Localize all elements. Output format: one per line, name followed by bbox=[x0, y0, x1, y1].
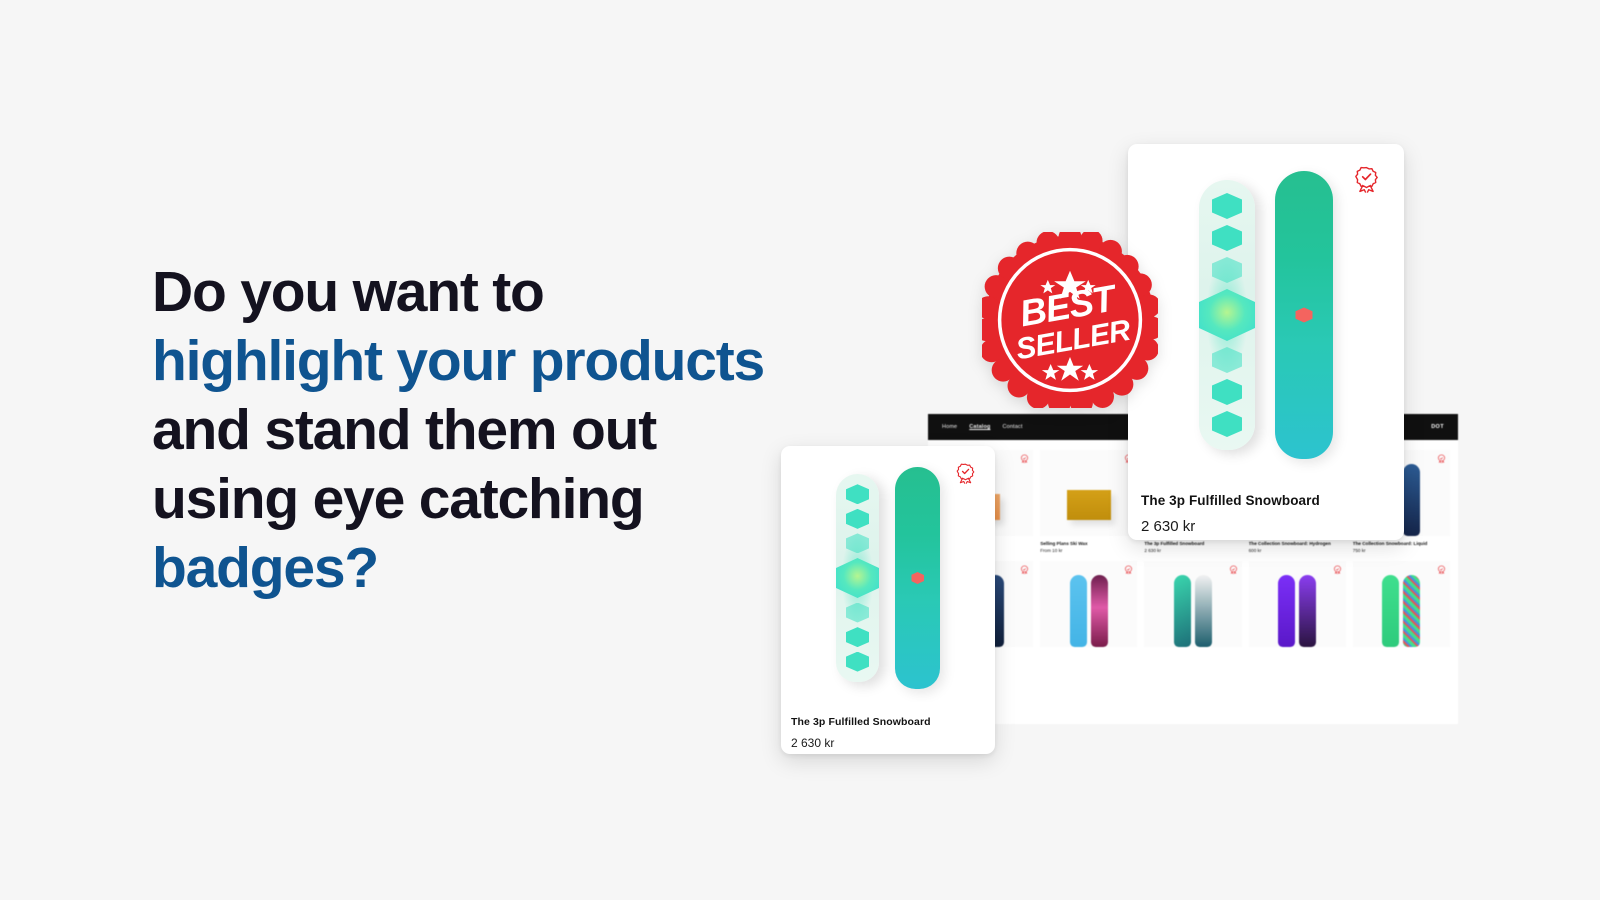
hex-4 bbox=[846, 603, 869, 623]
storefront-product-card[interactable] bbox=[1144, 561, 1241, 651]
award-ribbon-icon bbox=[1437, 565, 1446, 574]
storefront-product-card[interactable] bbox=[1249, 561, 1346, 651]
featured-product-card-small[interactable]: The 3p Fulfilled Snowboard 2 630 kr bbox=[781, 446, 995, 754]
nav-link-home[interactable]: Home bbox=[942, 424, 957, 430]
nav-link-catalog[interactable]: Catalog bbox=[969, 424, 990, 430]
award-ribbon-icon[interactable] bbox=[1353, 166, 1380, 193]
storefront-product-card[interactable]: Selling Plans Ski Wax From 10 kr bbox=[1040, 450, 1137, 554]
product-thumbnail bbox=[1249, 561, 1346, 647]
snowboard-pair-small bbox=[789, 454, 987, 702]
mini-board-right bbox=[1403, 575, 1420, 647]
mini-board-right bbox=[1403, 464, 1420, 536]
featured-product-card-large[interactable]: The 3p Fulfilled Snowboard 2 630 kr bbox=[1128, 144, 1404, 540]
mini-board-left bbox=[1278, 575, 1295, 647]
award-ribbon-icon bbox=[1229, 565, 1238, 574]
hexagon-pattern bbox=[836, 474, 879, 682]
snowboard-image bbox=[1382, 575, 1420, 647]
ski-wax-image bbox=[1067, 490, 1111, 520]
award-ribbon-icon bbox=[1020, 565, 1029, 574]
hex-logo-red bbox=[1296, 308, 1313, 323]
boards-large bbox=[1199, 171, 1333, 459]
hex-5 bbox=[846, 627, 869, 647]
hex-1 bbox=[1212, 193, 1242, 219]
headline-line-1: Do you want to bbox=[152, 258, 852, 327]
hexagon-pattern bbox=[1199, 180, 1255, 450]
award-ribbon-icon bbox=[1020, 454, 1029, 463]
mini-board-left bbox=[1070, 575, 1087, 647]
award-ribbon-icon[interactable] bbox=[955, 463, 976, 484]
product-title: The 3p Fulfilled Snowboard bbox=[791, 716, 987, 728]
product-title: The Collection Snowboard: Liquid bbox=[1353, 540, 1450, 547]
mini-board-left bbox=[1382, 575, 1399, 647]
hex-center bbox=[1199, 289, 1255, 341]
product-thumbnail bbox=[1040, 450, 1137, 536]
product-price: 750 kr bbox=[1353, 547, 1450, 554]
award-ribbon-icon bbox=[1437, 454, 1446, 463]
product-thumbnail bbox=[1144, 561, 1241, 647]
snowboard-right-large bbox=[1275, 171, 1333, 459]
mini-board-right bbox=[1299, 575, 1316, 647]
product-price: 600 kr bbox=[1249, 547, 1346, 554]
mini-board-right bbox=[1091, 575, 1108, 647]
hex-center bbox=[836, 558, 879, 598]
product-title: Selling Plans Ski Wax bbox=[1040, 540, 1137, 547]
product-title: The 3p Fulfilled Snowboard bbox=[1144, 540, 1241, 547]
product-price: 2 630 kr bbox=[1141, 518, 1394, 535]
hex-4 bbox=[1212, 347, 1242, 373]
snowboard-image bbox=[1278, 575, 1316, 647]
hex-6 bbox=[1212, 411, 1242, 437]
product-image-small bbox=[789, 454, 987, 702]
snowboard-left-large bbox=[1199, 180, 1255, 450]
headline-line-5: badges? bbox=[152, 534, 852, 603]
snowboard-image bbox=[1070, 575, 1108, 647]
storefront-product-card[interactable] bbox=[1040, 561, 1137, 651]
hex-5 bbox=[1212, 379, 1242, 405]
boards-small bbox=[836, 467, 940, 689]
snowboard-right-small bbox=[895, 467, 940, 689]
storefront-brand[interactable]: DOT bbox=[1431, 424, 1444, 430]
hex-3 bbox=[1212, 257, 1242, 283]
product-price: 2 630 kr bbox=[1144, 547, 1241, 554]
product-thumbnail bbox=[1353, 561, 1450, 647]
product-price: From 10 kr bbox=[1040, 547, 1137, 554]
snowboard-left-small bbox=[836, 474, 879, 682]
hex-logo-red bbox=[911, 572, 924, 584]
best-seller-stamp-icon[interactable]: BEST SELLER bbox=[982, 232, 1158, 408]
product-thumbnail bbox=[1040, 561, 1137, 647]
headline: Do you want to highlight your products a… bbox=[152, 258, 852, 603]
headline-line-3: and stand them out bbox=[152, 396, 852, 465]
hex-6 bbox=[846, 652, 869, 672]
headline-line-2: highlight your products bbox=[152, 327, 852, 396]
award-ribbon-icon bbox=[1333, 565, 1342, 574]
nav-link-contact[interactable]: Contact bbox=[1003, 424, 1023, 430]
product-title: The 3p Fulfilled Snowboard bbox=[1141, 493, 1394, 508]
storefront-product-card[interactable] bbox=[1353, 561, 1450, 651]
headline-line-4: using eye catching bbox=[152, 465, 852, 534]
hex-2 bbox=[1212, 225, 1242, 251]
snowboard-pair-large bbox=[1138, 154, 1394, 476]
product-title: The Collection Snowboard: Hydrogen bbox=[1249, 540, 1346, 547]
product-price: 2 630 kr bbox=[791, 736, 987, 750]
snowboard-image bbox=[1174, 575, 1212, 647]
product-image-large bbox=[1138, 154, 1394, 476]
hex-2 bbox=[846, 509, 869, 529]
award-ribbon-icon bbox=[1124, 565, 1133, 574]
mini-board-right bbox=[1195, 575, 1212, 647]
mini-board-left bbox=[1174, 575, 1191, 647]
hex-1 bbox=[846, 484, 869, 504]
hex-3 bbox=[846, 533, 869, 553]
